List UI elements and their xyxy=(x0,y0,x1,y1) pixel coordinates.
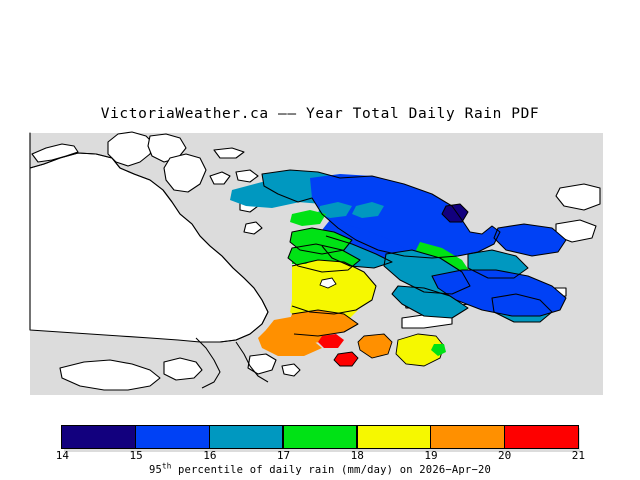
colorbar-tick-14: 14 xyxy=(56,449,69,462)
colorbar-separator-6 xyxy=(504,426,505,448)
colorbar-tick-15: 15 xyxy=(129,449,142,462)
colorbar-caption: 95th percentile of daily rain (mm/day) o… xyxy=(0,464,640,476)
colorbar-tick-20: 20 xyxy=(498,449,511,462)
colorbar-area: 1415161718192021 95th percentile of dail… xyxy=(0,420,640,480)
caption-prefix: 95 xyxy=(149,464,162,476)
colorbar-band-18-19 xyxy=(357,426,431,448)
colorbar-tick-19: 19 xyxy=(424,449,437,462)
colorbar xyxy=(61,425,579,449)
colorbar-separator-3 xyxy=(282,426,283,448)
colorbar-separator-4 xyxy=(356,426,357,448)
caption-rest: percentile of daily rain (mm/day) on 202… xyxy=(171,464,491,476)
colorbar-band-16-17 xyxy=(209,426,283,448)
colorbar-band-15-16 xyxy=(136,426,210,448)
colorbar-tick-18: 18 xyxy=(351,449,364,462)
colorbar-tick-labels: 1415161718192021 xyxy=(0,449,640,465)
colorbar-separator-2 xyxy=(209,426,210,448)
colorbar-tick-17: 17 xyxy=(277,449,290,462)
colorbar-band-20-21 xyxy=(504,426,578,448)
colorbar-tick-16: 16 xyxy=(203,449,216,462)
colorbar-separator-5 xyxy=(430,426,431,448)
colorbar-tick-21: 21 xyxy=(572,449,585,462)
page-title: VictoriaWeather.ca —— Year Total Daily R… xyxy=(0,106,640,122)
weather-map xyxy=(0,128,640,396)
map-panel xyxy=(0,128,640,396)
colorbar-separator-1 xyxy=(135,426,136,448)
colorbar-band-17-18 xyxy=(283,426,357,448)
colorbar-band-19-20 xyxy=(431,426,505,448)
colorbar-band-14-15 xyxy=(62,426,136,448)
